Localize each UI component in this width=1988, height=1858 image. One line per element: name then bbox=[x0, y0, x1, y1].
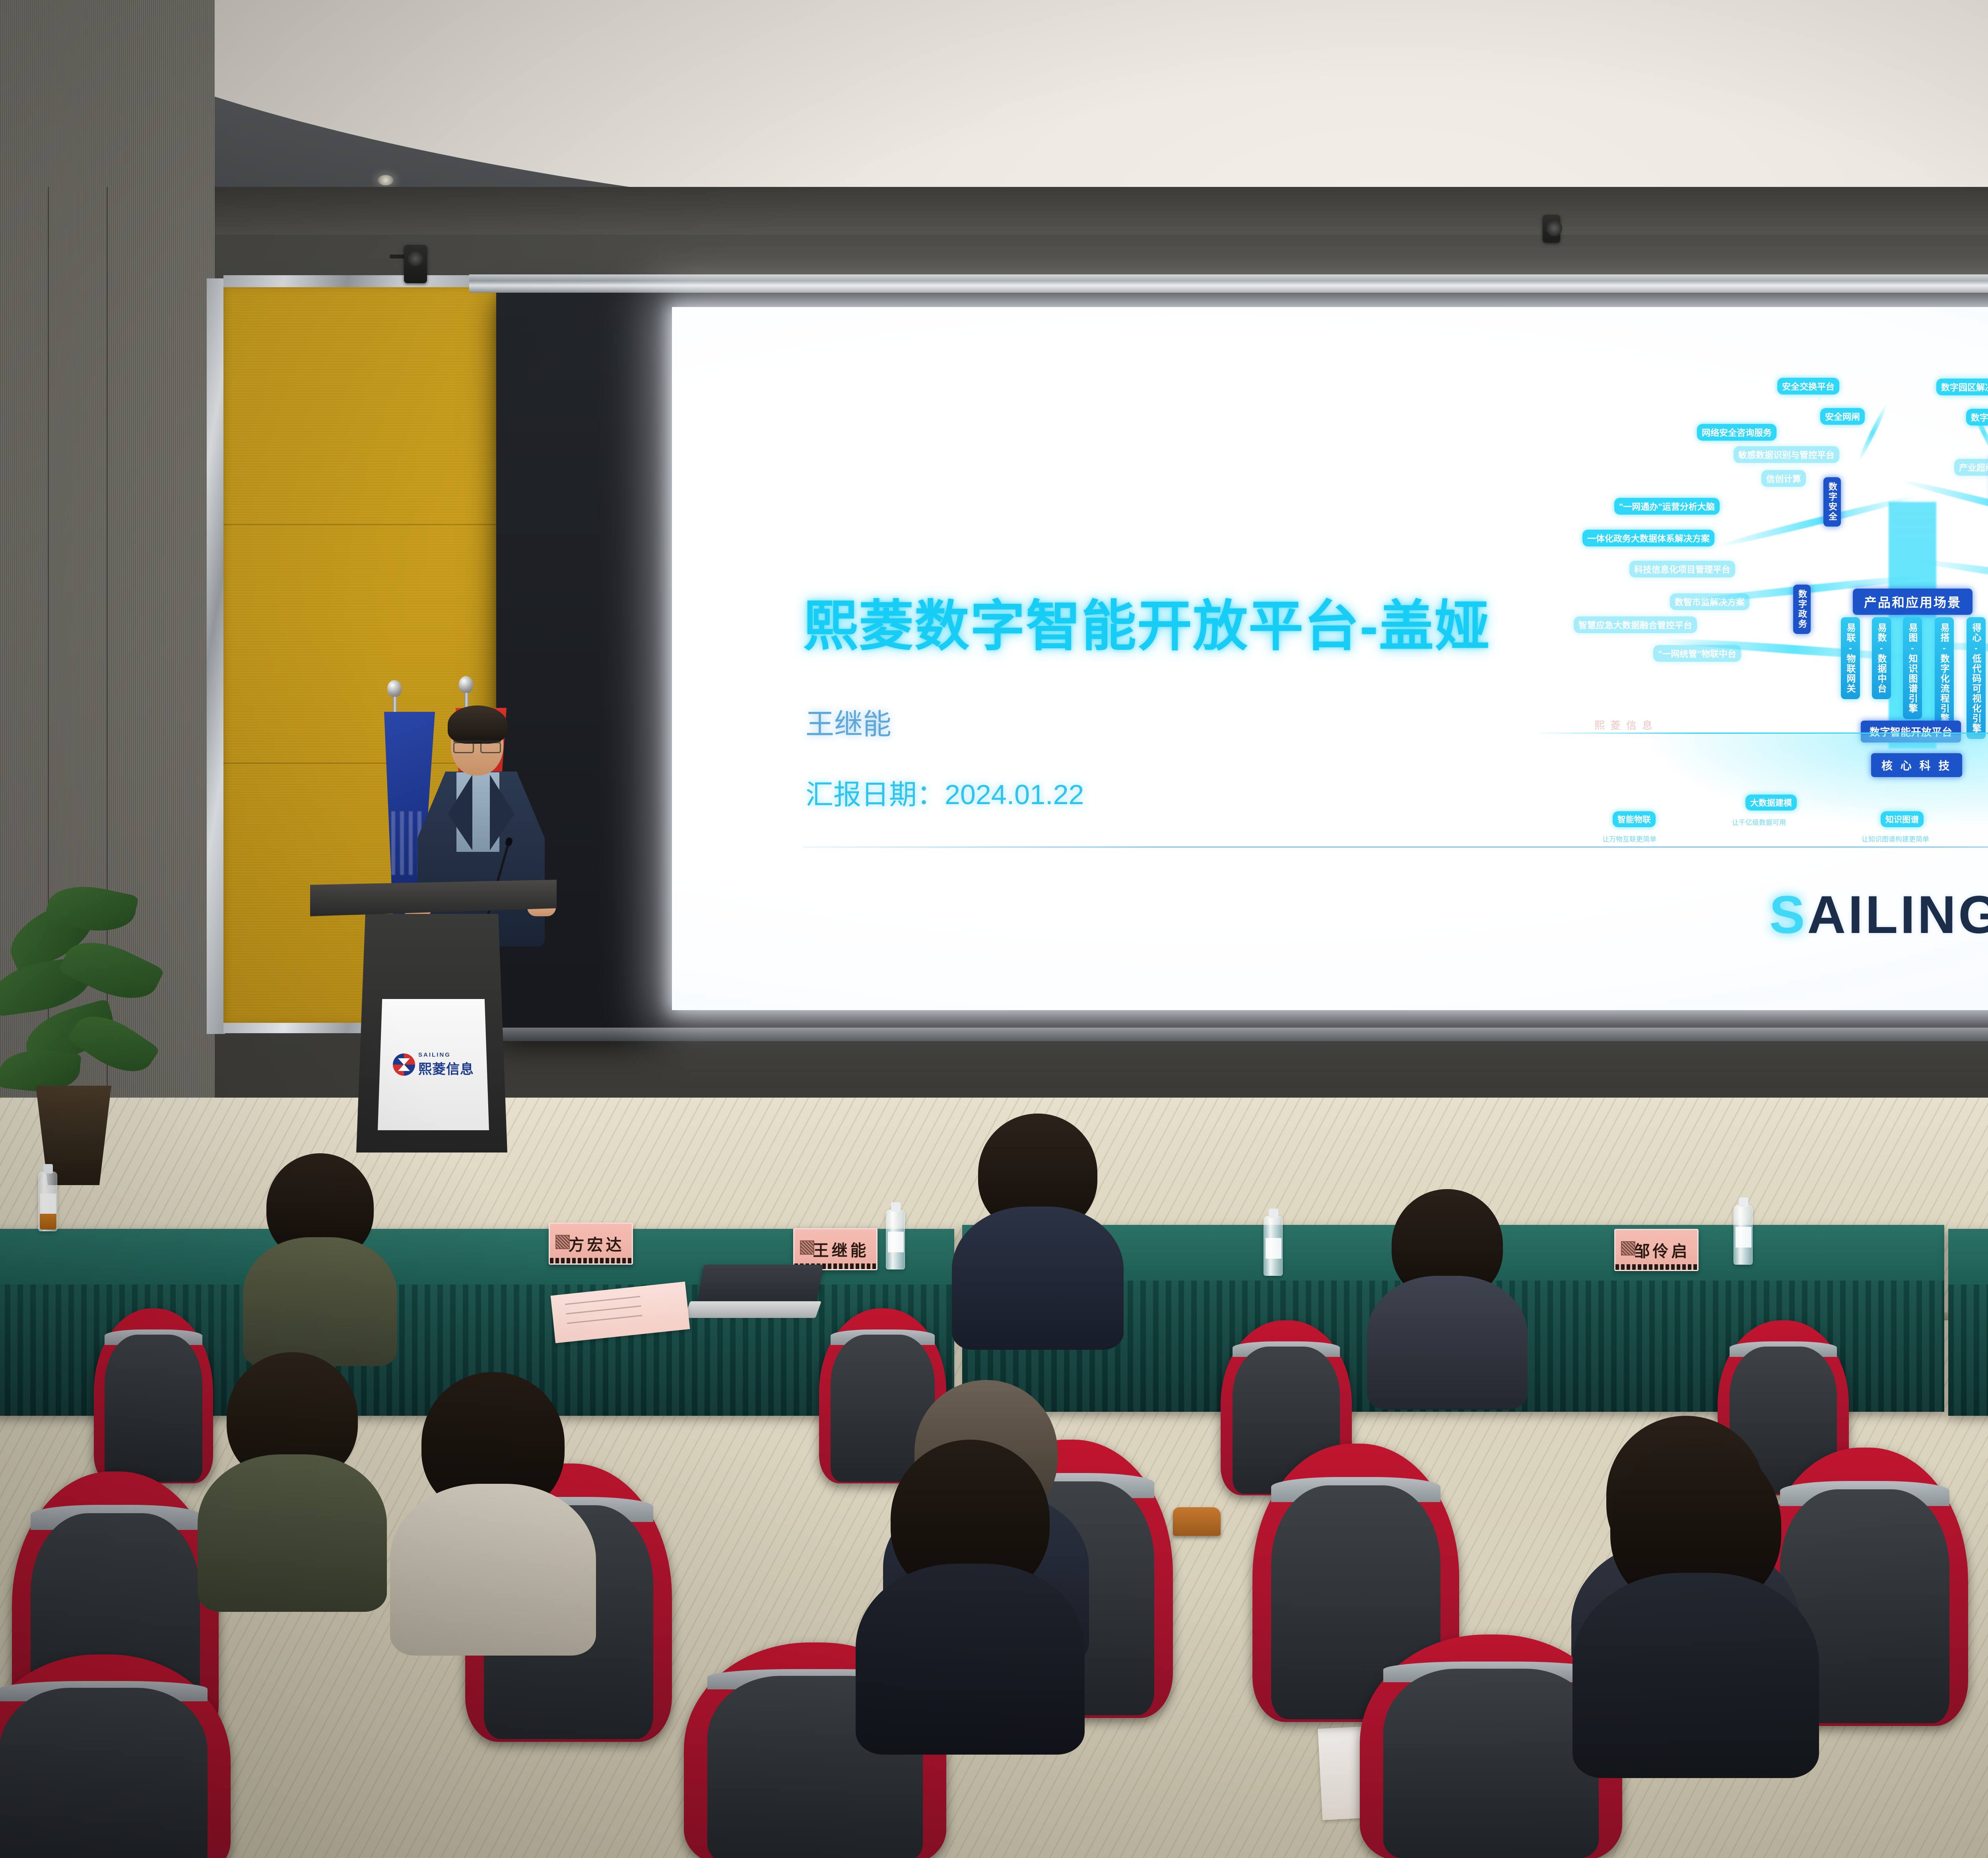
leaf-chip: "一网统管"物联中台 bbox=[1653, 645, 1741, 662]
place-card-name: 王继能 bbox=[813, 1238, 869, 1261]
seal-icon bbox=[555, 1235, 570, 1249]
core-item-1: 大数据建模 bbox=[1745, 795, 1797, 810]
leaf-chip: 信创计算 bbox=[1761, 470, 1806, 487]
watermark-left: 熙菱信息 bbox=[1594, 717, 1658, 732]
slide-divider bbox=[803, 846, 1988, 848]
screen-trim-bottom bbox=[469, 1028, 1988, 1041]
presenter-hair bbox=[448, 705, 507, 744]
leaf-chip: "一网通办"运营分析大脑 bbox=[1614, 498, 1720, 515]
leaf-chip: 安全网闸 bbox=[1820, 408, 1865, 425]
place-card: 方宏达 bbox=[549, 1222, 633, 1265]
pillar-2: 易图-知识图谱引擎 bbox=[1903, 617, 1922, 719]
leaf-chip: 数字能源解决方案 bbox=[1966, 409, 1988, 426]
leaf-chip: 敏感数据识别与管控平台 bbox=[1734, 446, 1839, 463]
presentation-screen[interactable]: 安全交换平台 安全网闸 网络安全咨询服务 敏感数据识别与管控平台 信创计算 "一… bbox=[672, 307, 1988, 1010]
leaf-chip: 科技信息化项目管理平台 bbox=[1629, 561, 1735, 577]
center-label: 产品和应用场景 bbox=[1853, 589, 1972, 615]
sailing-logo: SAILING bbox=[1769, 884, 1988, 945]
branch-label-government: 数字政务 bbox=[1793, 585, 1811, 634]
tree-diagram: 安全交换平台 安全网闸 网络安全咨询服务 敏感数据识别与管控平台 信创计算 "一… bbox=[1539, 331, 1988, 864]
logo-rest: AILING bbox=[1807, 885, 1988, 945]
core-item-2-sub: 让知识图谱构建更简单 bbox=[1862, 834, 1929, 843]
slide-author: 王继能 bbox=[806, 701, 891, 742]
wall-speaker bbox=[1543, 215, 1560, 243]
head-table-right bbox=[1948, 1229, 1988, 1416]
audience-person bbox=[1610, 1440, 1781, 1611]
slide-date: 汇报日期：2024.01.22 bbox=[806, 772, 1084, 812]
auditorium-seat[interactable] bbox=[0, 1654, 231, 1858]
potted-plant bbox=[0, 863, 175, 1189]
core-item-1-sub: 让千亿级数据可用 bbox=[1732, 817, 1786, 827]
screen-trim-top bbox=[469, 274, 1988, 293]
leaf-chip: 网络安全咨询服务 bbox=[1697, 424, 1776, 441]
wall-soffit bbox=[0, 187, 1988, 235]
podium-brand-en: SAILING bbox=[418, 1051, 451, 1058]
seal-icon bbox=[800, 1240, 814, 1255]
auditorium-scene: 安全交换平台 安全网闸 网络安全咨询服务 敏感数据识别与管控平台 信创计算 "一… bbox=[0, 0, 1988, 1858]
panel-trim bbox=[223, 275, 499, 287]
podium: SAILING 熙菱信息 bbox=[310, 880, 557, 1162]
leaf-chip: 数字园区解决方案 bbox=[1936, 379, 1988, 395]
pillar-1: 易数-数据中台 bbox=[1872, 617, 1891, 699]
panel-trim bbox=[207, 278, 225, 1034]
place-card: 王继能 bbox=[793, 1228, 878, 1270]
wall-speaker bbox=[404, 245, 427, 283]
water-bottle bbox=[1734, 1205, 1753, 1265]
pillar-0: 易联-物联网关 bbox=[1841, 617, 1860, 699]
downlight bbox=[378, 175, 394, 185]
company-emblem-icon bbox=[393, 1053, 415, 1076]
slide-title: 熙菱数字智能开放平台-盖娅 bbox=[803, 581, 1490, 661]
pillar-3: 易搭-数字化流程引擎 bbox=[1935, 617, 1954, 729]
logo-accent-letter: S bbox=[1769, 885, 1807, 945]
audience-person bbox=[227, 1352, 358, 1483]
leaf-chip: 智慧应急大数据融合管控平台 bbox=[1574, 616, 1697, 633]
water-bottle bbox=[1264, 1216, 1283, 1276]
audience-person bbox=[1392, 1189, 1503, 1300]
audience-person bbox=[891, 1440, 1050, 1599]
water-bottle bbox=[886, 1210, 905, 1269]
podium-lectern-top bbox=[310, 880, 557, 916]
seat-armrest bbox=[1173, 1507, 1221, 1536]
podium-brand-cn: 熙菱信息 bbox=[418, 1058, 474, 1078]
auditorium-seat[interactable] bbox=[94, 1308, 213, 1483]
leaf-chip: 一体化政务大数据体系解决方案 bbox=[1582, 530, 1714, 546]
audience-person bbox=[266, 1153, 374, 1261]
plant-pot bbox=[24, 1086, 123, 1185]
branch-label-security: 数字安全 bbox=[1823, 477, 1841, 527]
audience-person bbox=[978, 1114, 1097, 1233]
podium-brand-plate: SAILING 熙菱信息 bbox=[378, 999, 489, 1130]
place-card-name: 方宏达 bbox=[569, 1232, 625, 1255]
flag-finial bbox=[459, 676, 473, 693]
core-item-0: 智能物联 bbox=[1613, 811, 1656, 827]
flag-finial bbox=[387, 680, 402, 697]
seal-icon bbox=[1621, 1241, 1635, 1256]
laptop[interactable] bbox=[696, 1265, 823, 1312]
core-item-2: 知识图谱 bbox=[1881, 811, 1924, 827]
glasses-icon bbox=[453, 740, 501, 749]
leaf-chip: 安全交换平台 bbox=[1777, 378, 1839, 395]
leaf-chip: 数智市监解决方案 bbox=[1670, 593, 1749, 610]
leaf-chip: 产业超级大脑解决方案 bbox=[1954, 459, 1988, 476]
pillar-4: 得心-低代码可视化引擎 bbox=[1967, 617, 1986, 739]
core-item-0-sub: 让万物互联更简单 bbox=[1602, 834, 1656, 843]
core-tech-label: 核 心 科 技 bbox=[1871, 753, 1962, 777]
place-card-name: 邹伶启 bbox=[1634, 1238, 1690, 1261]
place-card: 邹伶启 bbox=[1614, 1229, 1699, 1271]
water-bottle bbox=[38, 1172, 57, 1231]
audience-person bbox=[421, 1372, 565, 1515]
